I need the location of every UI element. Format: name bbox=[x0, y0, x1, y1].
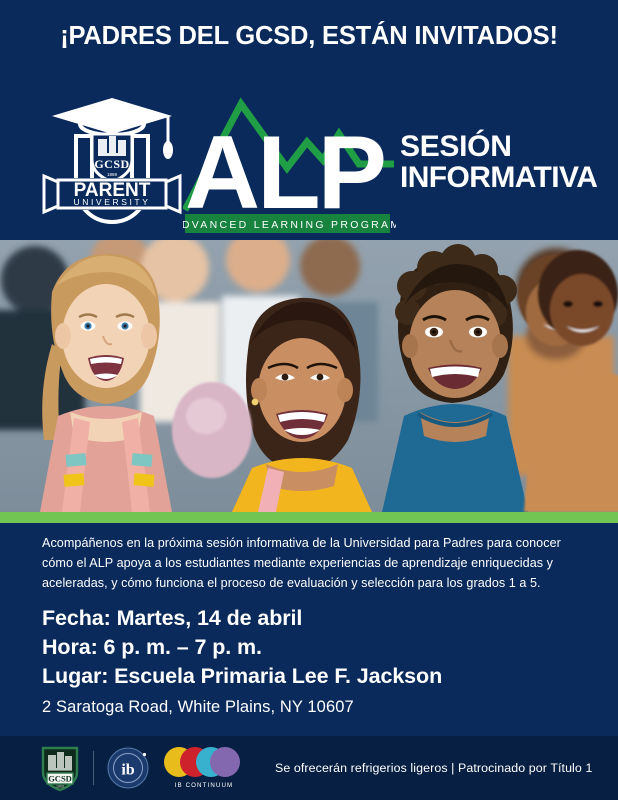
gcsd-year: 1869 bbox=[56, 785, 64, 789]
footer-bar: GCSD 1869 ib bbox=[0, 736, 618, 800]
green-divider bbox=[0, 512, 618, 523]
session-title-line1: SESIÓN bbox=[400, 132, 597, 163]
session-title-line2: INFORMATIVA bbox=[400, 163, 597, 194]
ribbon-bottom-label: UNIVERSITY bbox=[73, 197, 150, 207]
alp-acronym: ALP bbox=[185, 115, 384, 231]
logo-lockup: GCSD 1869 PARENT UNIVERSITY ALP ADVANCED bbox=[0, 82, 618, 242]
ib-logo-icon: ib bbox=[107, 747, 149, 789]
gcsd-shield-icon: GCSD 1869 bbox=[40, 744, 80, 792]
gcsd-label: GCSD bbox=[48, 774, 72, 784]
ib-continuum-icon: IB CONTINUUM bbox=[161, 745, 247, 791]
children-photo bbox=[0, 240, 618, 512]
page-title: ¡PADRES DEL GCSD, ESTÁN INVITADOS! bbox=[0, 22, 618, 51]
event-place: Lugar: Escuela Primaria Lee F. Jackson bbox=[42, 662, 582, 691]
ib-label: ib bbox=[121, 762, 134, 779]
event-date: Fecha: Martes, 14 de abril bbox=[42, 604, 582, 633]
crest-label: GCSD bbox=[94, 157, 129, 171]
crest-year: 1869 bbox=[107, 172, 118, 177]
footer-divider bbox=[93, 751, 94, 785]
alp-logo: ALP ADVANCED LEARNING PROGRAM bbox=[183, 90, 396, 238]
alp-tagline: ADVANCED LEARNING PROGRAM bbox=[183, 219, 396, 231]
flyer: ¡PADRES DEL GCSD, ESTÁN INVITADOS! bbox=[0, 0, 618, 800]
session-title: SESIÓN INFORMATIVA bbox=[400, 132, 597, 193]
footer-note: Se ofrecerán refrigerios ligeros | Patro… bbox=[275, 761, 592, 775]
event-address: 2 Saratoga Road, White Plains, NY 10607 bbox=[42, 695, 582, 720]
footer-logo-group: GCSD 1869 ib bbox=[0, 744, 247, 792]
parent-university-logo: GCSD 1869 PARENT UNIVERSITY bbox=[36, 86, 188, 238]
ib-continuum-label: IB CONTINUUM bbox=[175, 782, 234, 789]
event-time: Hora: 6 p. m. – 7 p. m. bbox=[42, 633, 582, 662]
body-paragraph: Acompáñenos en la próxima sesión informa… bbox=[42, 534, 582, 594]
event-details: Fecha: Martes, 14 de abril Hora: 6 p. m.… bbox=[42, 604, 582, 719]
